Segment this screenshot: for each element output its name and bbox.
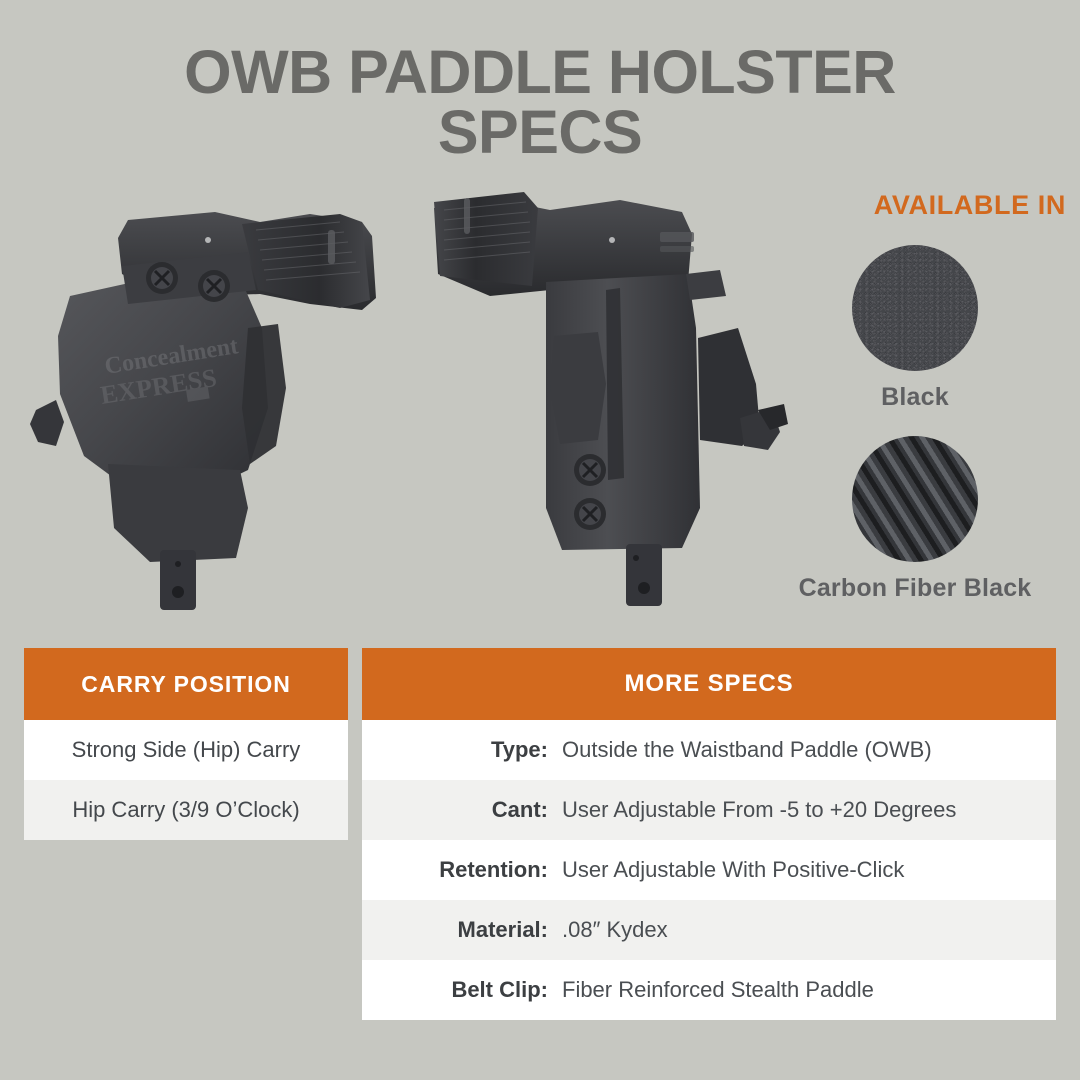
table-row: Hip Carry (3/9 O’Clock) bbox=[24, 780, 348, 840]
carry-position-value: Strong Side (Hip) Carry bbox=[72, 737, 301, 763]
spec-label-type: Type: bbox=[362, 737, 562, 763]
table-row: Belt Clip: Fiber Reinforced Stealth Padd… bbox=[362, 960, 1056, 1020]
available-in-panel: AVAILABLE IN Black Carbon Fiber Black bbox=[760, 190, 1070, 603]
table-row: Cant: User Adjustable From -5 to +20 Deg… bbox=[362, 780, 1056, 840]
spec-value-material: .08″ Kydex bbox=[562, 917, 1056, 943]
more-specs-table: MORE SPECS Type: Outside the Waistband P… bbox=[362, 648, 1056, 1020]
page-title-line-2: SPECS bbox=[0, 102, 1080, 162]
product-gallery: Concealment EXPRESS bbox=[0, 178, 800, 638]
carbon-fiber-swatch[interactable] bbox=[852, 436, 978, 562]
carry-position-header: CARRY POSITION bbox=[24, 648, 348, 720]
page-title: OWB PADDLE HOLSTER SPECS bbox=[0, 42, 1080, 162]
table-row: Strong Side (Hip) Carry bbox=[24, 720, 348, 780]
spec-value-cant: User Adjustable From -5 to +20 Degrees bbox=[562, 797, 1056, 823]
table-row: Type: Outside the Waistband Paddle (OWB) bbox=[362, 720, 1056, 780]
black-swatch[interactable] bbox=[852, 245, 978, 371]
black-swatch-label: Black bbox=[760, 383, 1070, 412]
table-row: Material: .08″ Kydex bbox=[362, 900, 1056, 960]
carry-position-value: Hip Carry (3/9 O’Clock) bbox=[72, 797, 299, 823]
table-row: Retention: User Adjustable With Positive… bbox=[362, 840, 1056, 900]
spec-value-retention: User Adjustable With Positive-Click bbox=[562, 857, 1056, 883]
spec-label-retention: Retention: bbox=[362, 857, 562, 883]
spec-value-belt-clip: Fiber Reinforced Stealth Paddle bbox=[562, 977, 1056, 1003]
more-specs-header: MORE SPECS bbox=[362, 648, 1056, 720]
carbon-fiber-swatch-label: Carbon Fiber Black bbox=[760, 574, 1070, 603]
available-in-heading: AVAILABLE IN bbox=[760, 190, 1070, 221]
swatch-group-carbon-fiber: Carbon Fiber Black bbox=[760, 436, 1070, 603]
spec-label-belt-clip: Belt Clip: bbox=[362, 977, 562, 1003]
spec-label-cant: Cant: bbox=[362, 797, 562, 823]
holster-front-view-image: Concealment EXPRESS bbox=[10, 178, 410, 638]
page-title-line-1: OWB PADDLE HOLSTER bbox=[0, 42, 1080, 102]
carry-position-table: CARRY POSITION Strong Side (Hip) Carry H… bbox=[24, 648, 348, 840]
spec-value-type: Outside the Waistband Paddle (OWB) bbox=[562, 737, 1056, 763]
spec-label-material: Material: bbox=[362, 917, 562, 943]
swatch-group-black: Black bbox=[760, 245, 1070, 412]
